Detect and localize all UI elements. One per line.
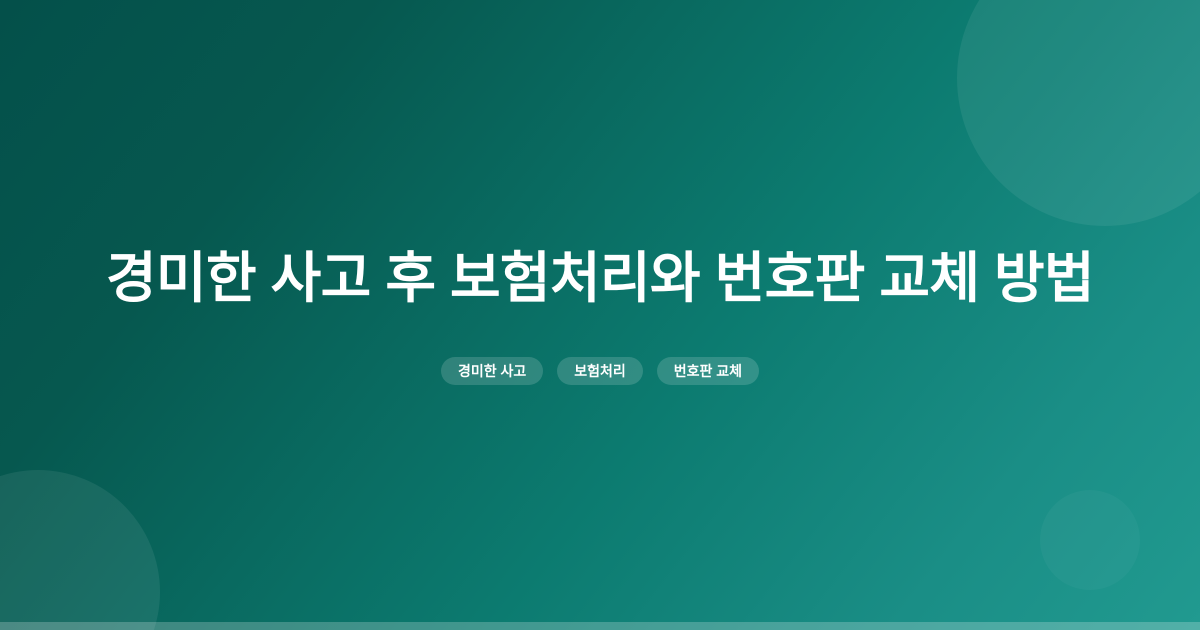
card-content: 경미한 사고 후 보험처리와 번호판 교체 방법 경미한 사고 보험처리 번호판… [0, 0, 1200, 630]
tag-chip-2[interactable]: 보험처리 [557, 357, 643, 385]
tag-chip-3[interactable]: 번호판 교체 [657, 357, 759, 385]
tag-list: 경미한 사고 보험처리 번호판 교체 [441, 357, 759, 385]
og-hero-card: 경미한 사고 후 보험처리와 번호판 교체 방법 경미한 사고 보험처리 번호판… [0, 0, 1200, 630]
tag-chip-1[interactable]: 경미한 사고 [441, 357, 543, 385]
bottom-accent-band [0, 622, 1200, 630]
page-title: 경미한 사고 후 보험처리와 번호판 교체 방법 [106, 245, 1094, 312]
